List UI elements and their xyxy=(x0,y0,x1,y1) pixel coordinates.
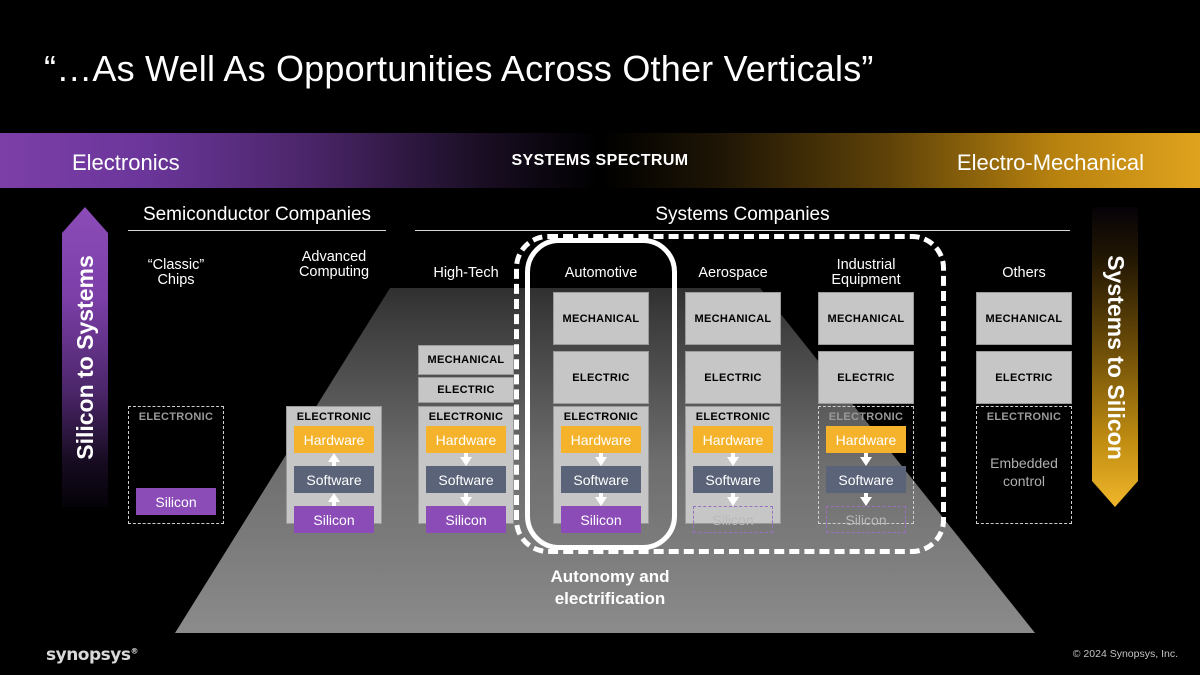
electric-box-others: ELECTRIC xyxy=(976,351,1072,404)
electronic-label: ELECTRONIC xyxy=(287,407,381,426)
embedded-line-1: Embedded xyxy=(977,454,1071,472)
column-title-advanced-computing: AdvancedComputing xyxy=(270,250,398,280)
electronic-box-classic-chips: ELECTRONICSilicon xyxy=(128,406,224,524)
silicon-layer-high-tech: Silicon xyxy=(426,506,506,533)
group-label: Systems Companies xyxy=(415,204,1070,226)
embedded-control-text: Embeddedcontrol xyxy=(977,426,1071,490)
electronic-label: ELECTRONIC xyxy=(129,407,223,426)
column-title-others: Others xyxy=(960,266,1088,281)
logo-text: synopsys xyxy=(46,645,130,665)
automotive-solid-outline xyxy=(525,238,677,550)
electric-box-high-tech: ELECTRIC xyxy=(418,377,514,403)
flow-arrow-down-icon xyxy=(419,493,513,506)
caption-line-2: electrification xyxy=(480,588,740,610)
silicon-to-systems-arrow-label-wrap: Silicon to Systems xyxy=(62,207,108,507)
highlight-caption: Autonomy and electrification xyxy=(480,566,740,610)
electronic-box-high-tech: ELECTRONICHardwareSoftwareSilicon xyxy=(418,406,514,524)
column-title-line-1: Advanced xyxy=(270,250,398,265)
copyright-text: © 2024 Synopsys, Inc. xyxy=(1073,648,1178,660)
group-label: Semiconductor Companies xyxy=(128,204,386,226)
silicon-layer-classic-chips: Silicon xyxy=(136,488,216,515)
electronic-label: ELECTRONIC xyxy=(419,407,513,426)
column-title-line-1: “Classic” xyxy=(112,258,240,273)
synopsys-logo: synopsys® xyxy=(46,645,138,665)
group-rule xyxy=(128,230,386,231)
mechanical-box-others: MECHANICAL xyxy=(976,292,1072,345)
column-title-line-2: Computing xyxy=(270,265,398,280)
flow-arrow-down-icon xyxy=(419,453,513,466)
column-title-high-tech: High-Tech xyxy=(402,266,530,281)
column-title-line-2: Chips xyxy=(112,273,240,288)
mechanical-box-high-tech: MECHANICAL xyxy=(418,345,514,375)
group-header-systems: Systems Companies xyxy=(415,204,1070,231)
caption-line-1: Autonomy and xyxy=(480,566,740,588)
flow-arrow-up-icon xyxy=(287,453,381,466)
silicon-to-systems-arrow-label: Silicon to Systems xyxy=(72,255,99,460)
software-layer-high-tech: Software xyxy=(426,466,506,493)
group-header-semiconductor: Semiconductor Companies xyxy=(128,204,386,231)
systems-to-silicon-arrow-label-wrap: Systems to Silicon xyxy=(1092,207,1138,507)
page-title: “…As Well As Opportunities Across Other … xyxy=(44,48,1144,90)
flow-arrow-up-icon xyxy=(287,493,381,506)
electronic-box-others: ELECTRONICEmbeddedcontrol xyxy=(976,406,1072,524)
electronic-box-advanced-computing: ELECTRONICHardwareSoftwareSilicon xyxy=(286,406,382,524)
column-title-line-1: High-Tech xyxy=(402,266,530,281)
spectrum-right-label: Electro-Mechanical xyxy=(957,150,1144,176)
column-title-classic-chips: “Classic”Chips xyxy=(112,258,240,288)
slide-canvas: “…As Well As Opportunities Across Other … xyxy=(0,0,1200,675)
group-rule xyxy=(415,230,1070,231)
systems-to-silicon-arrow-label: Systems to Silicon xyxy=(1102,255,1129,460)
logo-mark: ® xyxy=(130,646,138,655)
hardware-layer-high-tech: Hardware xyxy=(426,426,506,453)
embedded-line-2: control xyxy=(977,472,1071,490)
software-layer-advanced-computing: Software xyxy=(294,466,374,493)
hardware-layer-advanced-computing: Hardware xyxy=(294,426,374,453)
electronic-label: ELECTRONIC xyxy=(977,407,1071,426)
column-title-line-1: Others xyxy=(960,266,1088,281)
silicon-layer-advanced-computing: Silicon xyxy=(294,506,374,533)
